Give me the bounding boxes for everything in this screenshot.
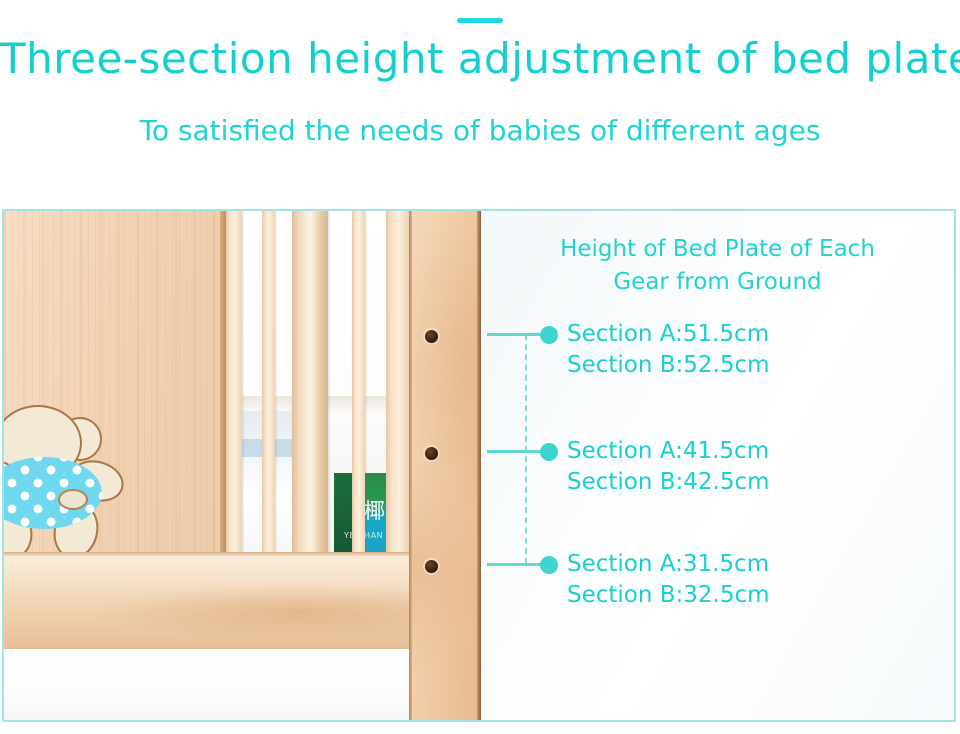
gear-section-a-label: Section A:51.5cm bbox=[567, 319, 770, 350]
height-info-panel: Height of Bed Plate of Each Gear from Gr… bbox=[481, 211, 954, 720]
crib-photograph: 椰(山 YE SHAN ZHA GAO bbox=[4, 211, 481, 720]
product-photo-panel: 椰(山 YE SHAN ZHA GAO Height of Bed Plate … bbox=[2, 209, 956, 722]
accent-rule-divider bbox=[457, 18, 503, 23]
gear-connector-spine bbox=[525, 334, 527, 564]
screw-hole-icon bbox=[425, 447, 438, 460]
crib-slat bbox=[292, 211, 328, 556]
gear-section-b-label: Section B:32.5cm bbox=[567, 580, 770, 611]
gear-section-b-label: Section B:42.5cm bbox=[567, 467, 770, 498]
gear-section-a-label: Section A:41.5cm bbox=[567, 436, 770, 467]
teddy-bear-decal bbox=[4, 423, 126, 558]
gear-section-b-label: Section B:52.5cm bbox=[567, 350, 770, 381]
gear-label-group: Section A:51.5cm Section B:52.5cm bbox=[567, 319, 770, 381]
crib-slat bbox=[226, 211, 242, 556]
screw-hole-icon bbox=[425, 330, 438, 343]
gear-label-group: Section A:31.5cm Section B:32.5cm bbox=[567, 549, 770, 611]
screw-hole-icon bbox=[425, 560, 438, 573]
info-panel-heading: Height of Bed Plate of Each Gear from Gr… bbox=[481, 233, 954, 299]
page-header: Three-section height adjustment of bed p… bbox=[0, 0, 960, 149]
bear-navel-icon bbox=[58, 489, 88, 510]
crib-corner-post bbox=[409, 211, 481, 720]
gear-marker-dot bbox=[540, 443, 558, 461]
gear-section-a-label: Section A:31.5cm bbox=[567, 549, 770, 580]
info-heading-line-2: Gear from Ground bbox=[613, 269, 821, 295]
crib-slat bbox=[352, 211, 365, 556]
page-title: Three-section height adjustment of bed p… bbox=[0, 33, 960, 85]
crib-slat bbox=[386, 211, 409, 556]
page-subtitle: To satisfied the needs of babies of diff… bbox=[0, 113, 960, 149]
gear-label-group: Section A:41.5cm Section B:42.5cm bbox=[567, 436, 770, 498]
crib-slat bbox=[262, 211, 275, 556]
gear-marker-dot bbox=[540, 326, 558, 344]
gear-marker-dot bbox=[540, 556, 558, 574]
info-heading-line-1: Height of Bed Plate of Each bbox=[560, 236, 875, 262]
post-edge-left bbox=[409, 211, 412, 720]
